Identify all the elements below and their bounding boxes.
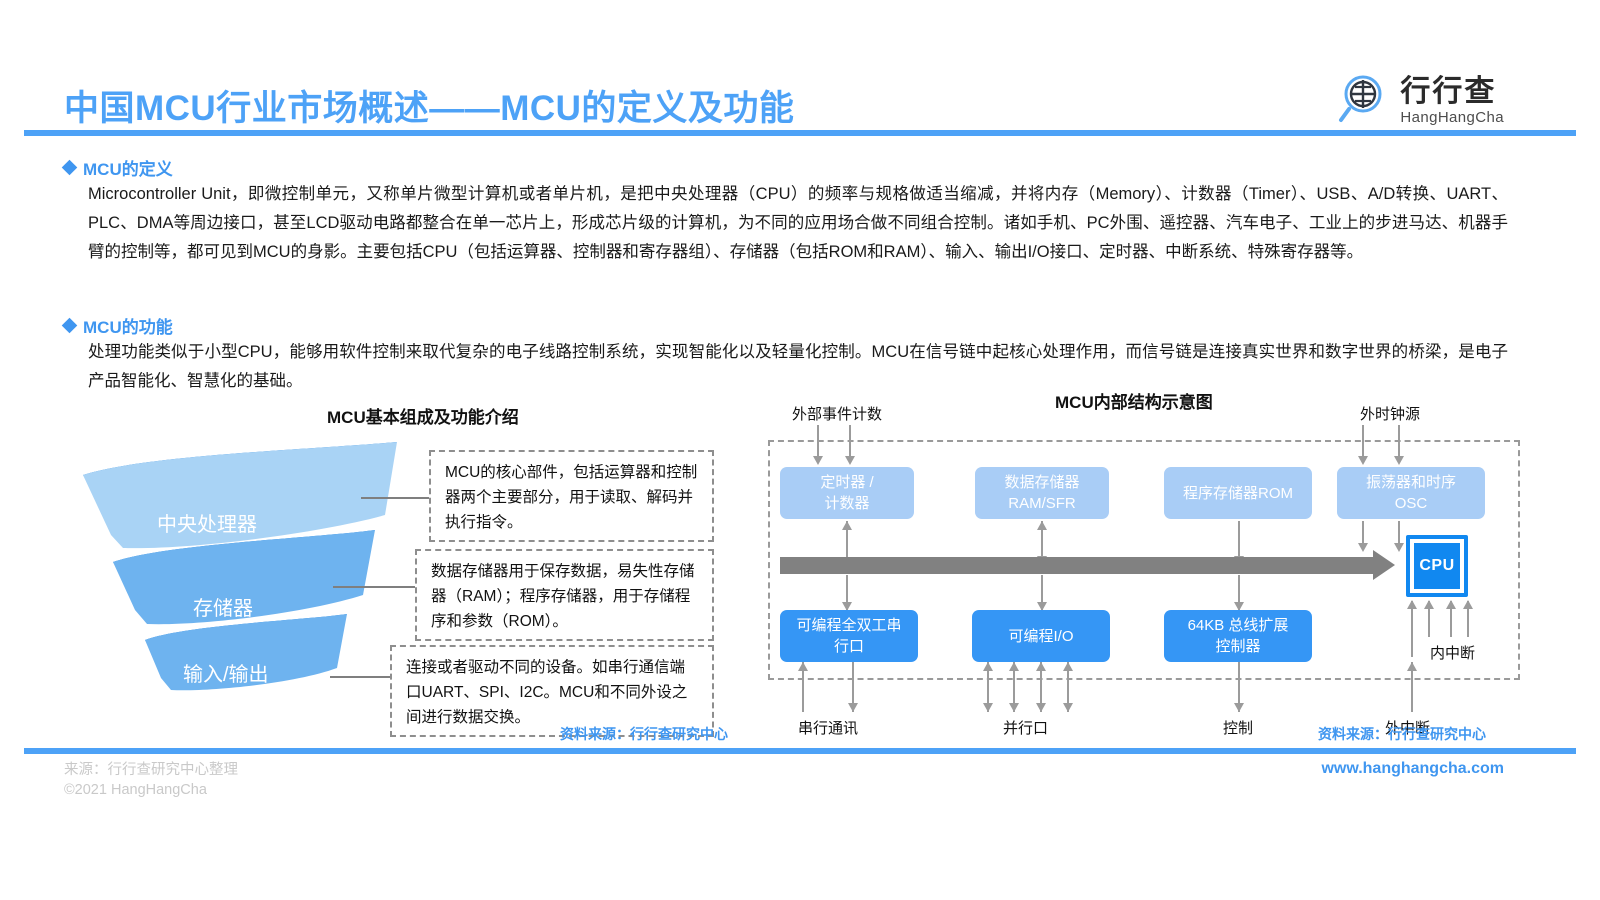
arrow-head (1037, 521, 1047, 530)
left-chart-title: MCU基本组成及功能介绍 (327, 403, 519, 428)
paragraph-function: 处理功能类似于小型CPU，能够用软件控制来取代复杂的电子线路控制系统，实现智能化… (88, 338, 1508, 396)
arrow-head (1036, 703, 1046, 712)
arrow-line (849, 425, 851, 458)
arrow-head (983, 703, 993, 712)
logo-text-cn: 行行查 (1400, 77, 1496, 107)
block-label: 64KB 总线扩展 控制器 (1188, 615, 1289, 657)
leader-line-2 (333, 586, 415, 588)
arrow-line (1411, 601, 1413, 657)
block-data-memory: 数据存储器 RAM/SFR (975, 467, 1109, 519)
mcu-internal-diagram: 外部事件计数 外时钟源 定时器 / 计数器 数据存储器 RAM/SFR 程序存储… (760, 395, 1530, 725)
header-divider (24, 130, 1576, 136)
annotation-box-cpu: MCU的核心部件，包括运算器和控制器两个主要部分，用于读取、解码并执行指令。 (429, 450, 714, 542)
block-label: 可编程全双工串 行口 (796, 615, 901, 657)
right-chart-source: 资料来源：行行查研究中心 (1318, 724, 1486, 744)
section-label: MCU的功能 (83, 313, 173, 338)
arrow-head (1463, 600, 1473, 609)
diamond-bullet-icon (62, 318, 78, 334)
block-timer-counter: 定时器 / 计数器 (780, 467, 914, 519)
arrow-head (1234, 703, 1244, 712)
arrow-head (1394, 543, 1404, 552)
annotation-box-memory: 数据存储器用于保存数据，易失性存储器（RAM）；程序存储器，用于存储程序和参数（… (415, 549, 714, 641)
outside-label-control: 控制 (1223, 717, 1253, 738)
block-uart-port: 可编程全双工串 行口 (780, 610, 918, 662)
arrow-head (1407, 600, 1417, 609)
arrow-head (813, 456, 823, 465)
leader-line-3 (330, 676, 390, 678)
cpu-core-block: CPU (1406, 535, 1468, 597)
outside-label-event-count: 外部事件计数 (792, 403, 882, 424)
cpu-label: CPU (1419, 557, 1454, 575)
outside-label-clock-source: 外时钟源 (1360, 403, 1420, 424)
footer-divider (24, 748, 1576, 754)
outside-label-parallel: 并行口 (1003, 717, 1048, 738)
slide-page: 中国MCU行业市场概述——MCU的定义及功能 行行查 HangHangCha M… (0, 0, 1600, 900)
block-label: 可编程I/O (1008, 626, 1073, 647)
arrow-line (1362, 521, 1364, 545)
arrow-head (983, 662, 993, 671)
funnel-layer-label-3: 输入/输出 (183, 658, 269, 687)
block-bus-expansion: 64KB 总线扩展 控制器 (1164, 610, 1312, 662)
section-heading-definition: MCU的定义 (64, 155, 173, 180)
funnel-layer-label-2: 存储器 (193, 592, 253, 621)
block-program-rom: 程序存储器ROM (1164, 467, 1312, 519)
arrow-head (798, 662, 808, 671)
arrow-head (848, 703, 858, 712)
bus-arrow-head (1373, 550, 1395, 580)
arrow-head (1009, 703, 1019, 712)
logo-text-en: HangHangCha (1400, 109, 1504, 126)
funnel-layer-label-1: 中央处理器 (157, 508, 257, 537)
arrow-head (1358, 543, 1368, 552)
footer-website[interactable]: www.hanghangcha.com (1321, 760, 1504, 778)
funnel-diagram: 中央处理器 存储器 输入/输出 (75, 440, 405, 710)
arrow-head (1036, 662, 1046, 671)
section-heading-function: MCU的功能 (64, 313, 173, 338)
block-oscillator: 振荡器和时序 OSC (1337, 467, 1485, 519)
paragraph-definition: Microcontroller Unit，即微控制单元，又称单片微型计算机或者单… (88, 180, 1508, 267)
arrow-head (1394, 456, 1404, 465)
arrow-head (1424, 600, 1434, 609)
magnifier-grid-icon (1336, 70, 1392, 126)
footer-copyright: ©2021 HangHangCha (64, 782, 207, 798)
system-bus (780, 557, 1375, 574)
block-programmable-io: 可编程I/O (972, 610, 1110, 662)
arrow-line (1398, 425, 1400, 458)
section-label: MCU的定义 (83, 155, 173, 180)
arrow-head (1446, 600, 1456, 609)
arrow-line (1398, 521, 1400, 545)
block-label: 振荡器和时序 OSC (1366, 472, 1456, 514)
brand-logo: 行行查 HangHangCha (1336, 70, 1504, 126)
arrow-head (1009, 662, 1019, 671)
arrow-head (845, 456, 855, 465)
arrow-head (1063, 703, 1073, 712)
page-title: 中国MCU行业市场概述——MCU的定义及功能 (64, 80, 794, 131)
arrow-line (1362, 425, 1364, 458)
arrow-head (1063, 662, 1073, 671)
arrow-head (1358, 456, 1368, 465)
diamond-bullet-icon (62, 160, 78, 176)
footer-source: 来源：行行查研究中心整理 (64, 758, 238, 779)
outside-label-serial: 串行通讯 (798, 717, 858, 738)
left-chart-source: 资料来源：行行查研究中心 (560, 724, 728, 744)
block-label: 数据存储器 RAM/SFR (1004, 472, 1079, 514)
arrow-line (817, 425, 819, 458)
arrow-head (1407, 662, 1417, 671)
arrow-head (842, 521, 852, 530)
leader-line-1 (361, 497, 429, 499)
inner-interrupt-label: 内中断 (1430, 642, 1475, 663)
block-label: 程序存储器ROM (1183, 483, 1293, 504)
block-label: 定时器 / 计数器 (820, 472, 873, 514)
